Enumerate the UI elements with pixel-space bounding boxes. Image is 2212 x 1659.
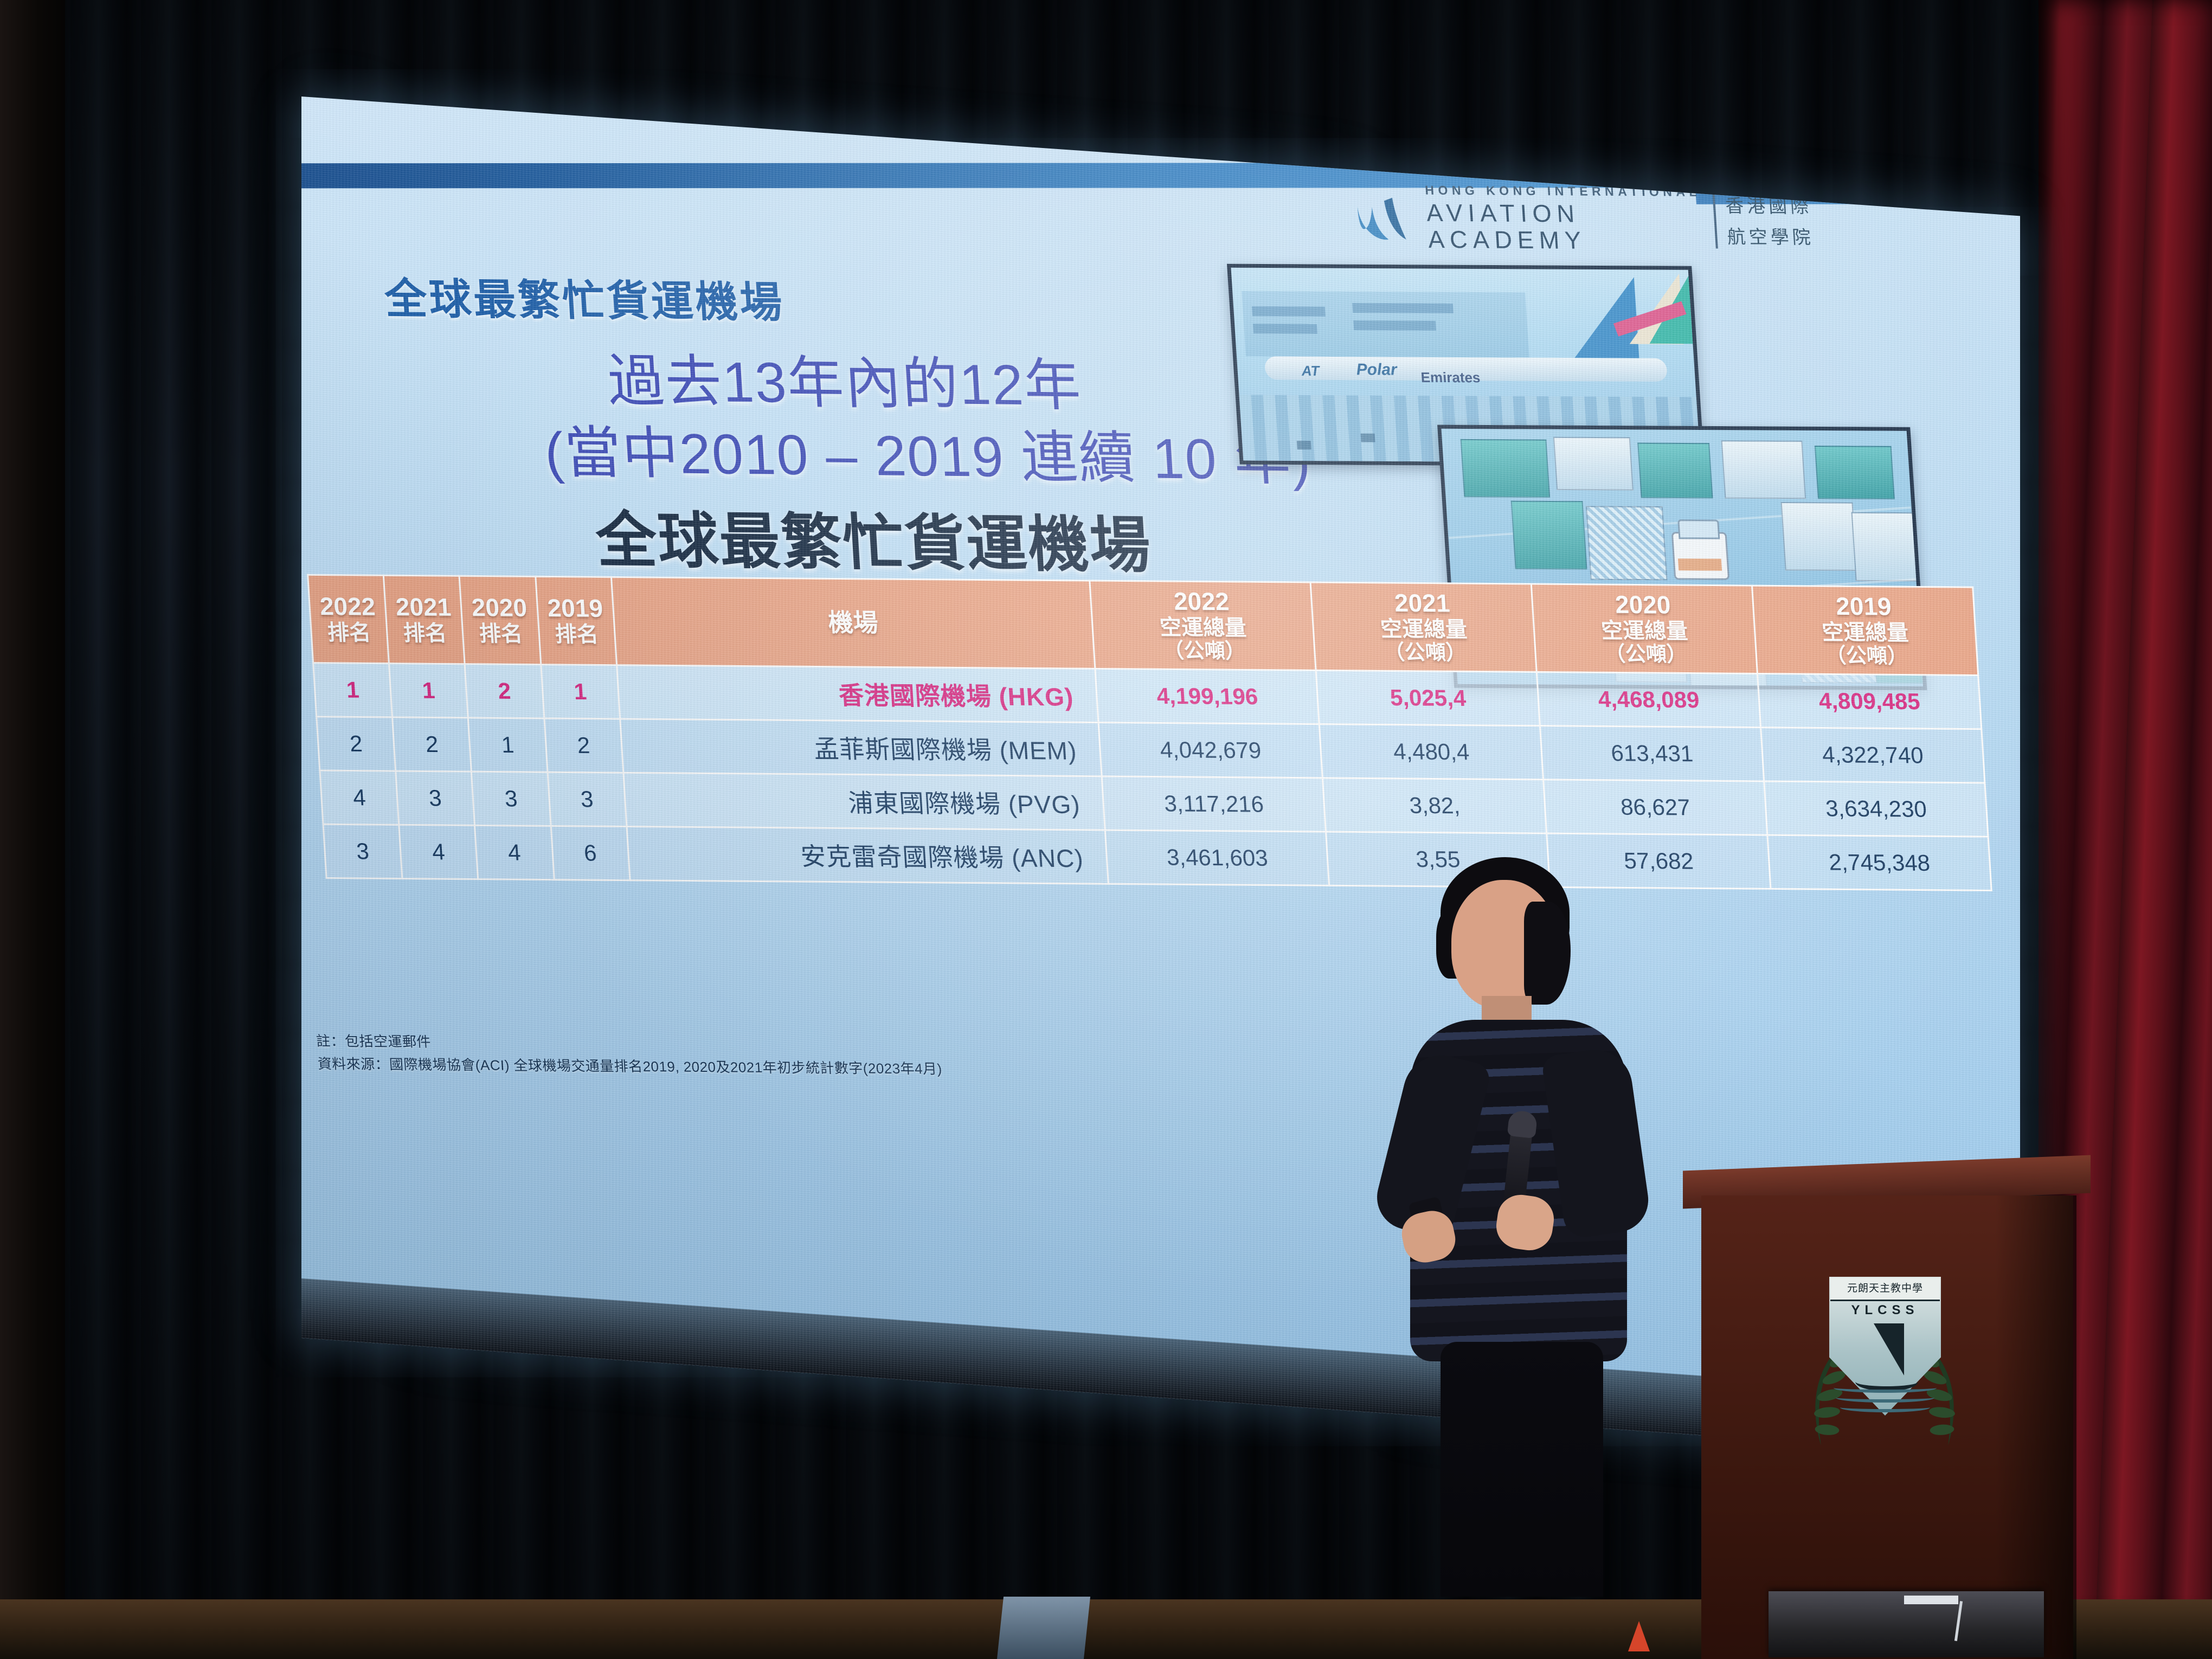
cell-rank-2020: 2 xyxy=(465,664,544,718)
cell-rank-2021: 1 xyxy=(389,663,468,717)
crest-chinese-name: 元朗天主教中學 xyxy=(1830,1280,1940,1295)
cell-rank-2022: 4 xyxy=(320,770,399,825)
slide-headline-3: 全球最繁忙貨運機場 xyxy=(593,491,1154,584)
stage-prop-box xyxy=(997,1597,1090,1659)
cell-volume-2021: 3,82, xyxy=(1323,778,1547,833)
aviation-academy-swoosh-icon xyxy=(1353,191,1420,244)
col-volume-2021: 2021 空運總量 （公噸） xyxy=(1310,582,1536,672)
cell-rank-2021: 2 xyxy=(393,717,472,771)
col-volume-2020: 2020 空運總量 （公噸） xyxy=(1531,584,1757,673)
stage-curtain-left-edge xyxy=(0,0,65,1621)
busiest-cargo-airports-table: 2022 排名 2021 排名 2020 排名 xyxy=(307,574,1992,891)
col-rank-2021: 2021 排名 xyxy=(383,575,465,664)
cell-rank-2019: 6 xyxy=(551,826,630,880)
lectern: 元朗天主教中學 YLCSS xyxy=(1697,1163,2076,1659)
col-rank-2022: 2022 排名 xyxy=(308,575,389,663)
cell-airport: 安克雷奇國際機場 (ANC) xyxy=(627,826,1109,884)
cell-rank-2019: 3 xyxy=(548,772,627,826)
stage-prop-cone xyxy=(1628,1621,1650,1651)
stage-scene: HONG KONG INTERNATIONAL AVIATION ACADEMY… xyxy=(0,0,2212,1659)
crest-initials: YLCSS xyxy=(1830,1303,1940,1318)
cell-volume-2022: 3,117,216 xyxy=(1102,776,1326,832)
cell-volume-2019: 4,809,485 xyxy=(1758,673,1982,729)
slide-headline-2: (當中2010 – 2019 連續 10 年) xyxy=(542,406,1313,496)
av-equipment-box xyxy=(1769,1591,2044,1657)
cell-rank-2022: 1 xyxy=(313,663,393,717)
brand-line-2: ACADEMY xyxy=(1427,227,1705,253)
cell-volume-2021: 5,025,4 xyxy=(1316,670,1540,725)
col-volume-2019: 2019 空運總量 （公噸） xyxy=(1752,586,1978,675)
cell-airport: 孟菲斯國際機場 (MEM) xyxy=(620,719,1102,776)
cell-rank-2020: 4 xyxy=(475,825,554,879)
cell-rank-2019: 2 xyxy=(544,718,623,773)
cell-volume-2019: 2,745,348 xyxy=(1767,835,1991,890)
cell-volume-2022: 4,199,196 xyxy=(1095,668,1319,724)
brand-zh-line-2: 航空學院 xyxy=(1726,222,1815,249)
cell-volume-2022: 3,461,603 xyxy=(1105,830,1329,885)
col-rank-2019: 2019 排名 xyxy=(535,576,616,665)
col-airport: 機場 xyxy=(611,577,1095,668)
cell-airport: 浦東國際機場 (PVG) xyxy=(623,773,1105,830)
cell-volume-2019: 4,322,740 xyxy=(1761,728,1985,783)
cell-rank-2019: 1 xyxy=(541,665,620,719)
col-rank-2020: 2020 排名 xyxy=(459,576,541,664)
cell-rank-2020: 3 xyxy=(472,771,551,826)
cell-volume-2022: 4,042,679 xyxy=(1098,722,1322,777)
cell-airport: 香港國際機場 (HKG) xyxy=(616,665,1098,723)
cell-volume-2021: 4,480,4 xyxy=(1319,724,1543,779)
col-volume-2022: 2022 空運總量 （公噸） xyxy=(1090,581,1316,670)
presenter xyxy=(1391,838,1683,1597)
school-crest-icon: 元朗天主教中學 YLCSS xyxy=(1803,1277,1966,1456)
cell-rank-2022: 3 xyxy=(323,824,402,878)
cell-rank-2021: 3 xyxy=(396,771,475,825)
cell-volume-2020: 613,431 xyxy=(1540,726,1764,781)
cell-volume-2020: 86,627 xyxy=(1544,780,1767,835)
slide-footnotes: 註：包括空運郵件 資料來源：國際機場協會(ACI) 全球機場交通量排名2019,… xyxy=(316,1030,943,1081)
footnote-2: 資料來源：國際機場協會(ACI) 全球機場交通量排名2019, 2020及202… xyxy=(317,1052,943,1080)
cell-rank-2021: 4 xyxy=(399,825,478,879)
table-header-row: 2022 排名 2021 排名 2020 排名 xyxy=(308,575,1978,675)
cell-rank-2022: 2 xyxy=(317,717,396,771)
brand-line-1: AVIATION xyxy=(1426,201,1703,227)
cell-volume-2020: 4,468,089 xyxy=(1536,672,1760,727)
cell-rank-2020: 1 xyxy=(468,718,548,772)
slide-title: 全球最繁忙貨運機場 xyxy=(383,265,786,330)
sailboat-icon xyxy=(1867,1323,1904,1375)
cell-volume-2019: 3,634,230 xyxy=(1764,781,1988,837)
